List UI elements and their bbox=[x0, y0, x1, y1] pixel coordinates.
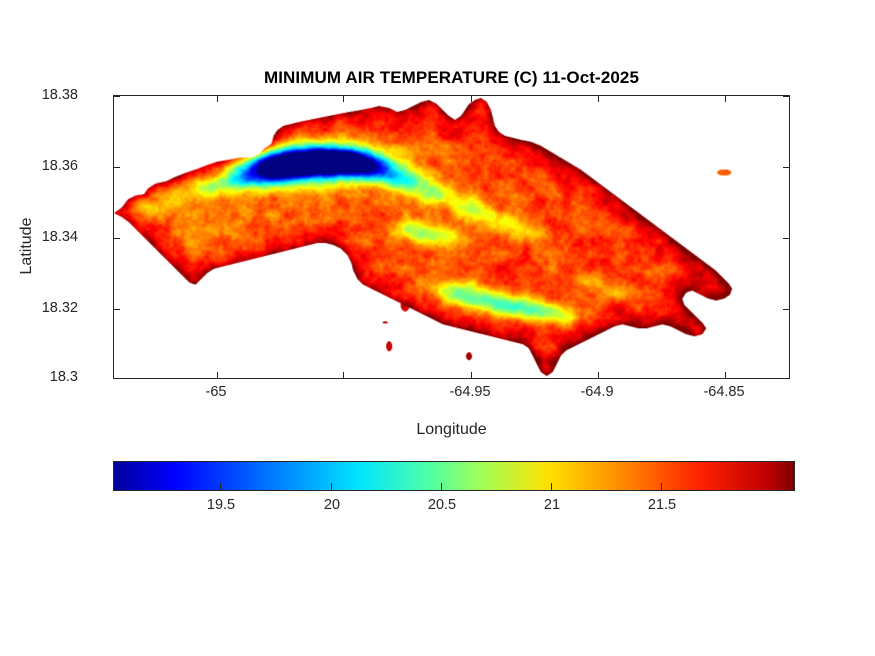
colorbar-tick-label: 20 bbox=[324, 497, 340, 513]
colorbar-tick-label: 21 bbox=[544, 497, 560, 513]
colorbar-tick bbox=[441, 483, 442, 490]
y-tick-label: 18.32 bbox=[0, 300, 85, 316]
colorbar-tick bbox=[220, 483, 221, 490]
y-axis-label: Latitude bbox=[18, 186, 36, 306]
colorbar-tick bbox=[661, 483, 662, 490]
y-tick-label: 18.34 bbox=[0, 229, 85, 245]
colorbar-tick bbox=[331, 483, 332, 490]
colorbar[interactable] bbox=[113, 461, 795, 491]
y-tick-label: 18.38 bbox=[0, 87, 85, 103]
y-tick-label: 18.3 bbox=[0, 369, 85, 385]
colorbar-tick-label: 19.5 bbox=[207, 497, 235, 513]
x-axis-label: Longitude bbox=[113, 421, 790, 439]
colorbar-tick-label: 20.5 bbox=[428, 497, 456, 513]
colorbar-tick bbox=[551, 483, 552, 490]
figure-canvas: MINIMUM AIR TEMPERATURE (C) 11-Oct-2025 … bbox=[0, 0, 875, 656]
colorbar-tick-label: 21.5 bbox=[648, 497, 676, 513]
y-tick-label: 18.36 bbox=[0, 158, 85, 174]
